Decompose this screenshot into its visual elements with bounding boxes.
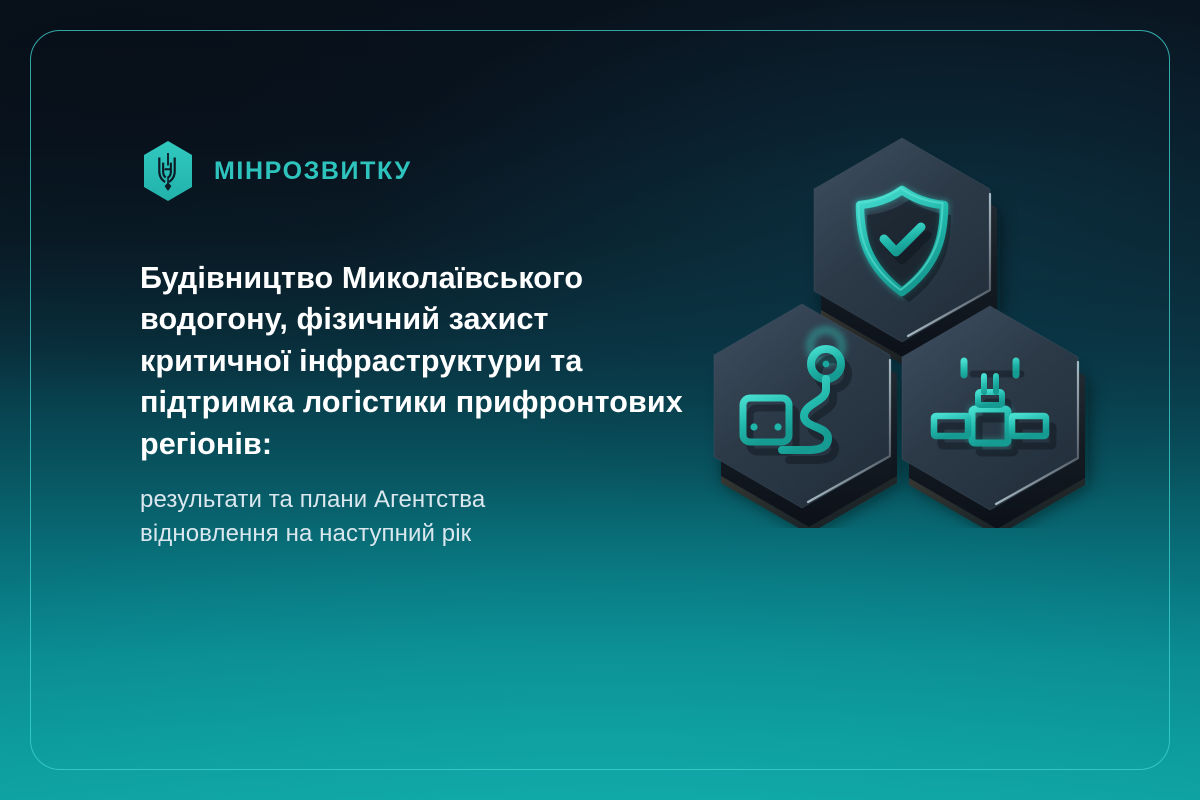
hexagon-tiles-illustration — [690, 118, 1110, 528]
ukraine-trident-hexagon-icon — [140, 140, 196, 202]
brand-lockup: МІНРОЗВИТКУ — [140, 140, 740, 202]
page-subtitle: результати та плани Агентства відновленн… — [140, 483, 610, 551]
page-title: Будівництво Миколаївського водогону, фіз… — [140, 258, 700, 465]
brand-name: МІНРОЗВИТКУ — [214, 159, 412, 184]
presentation-slide: МІНРОЗВИТКУ Будівництво Миколаївського в… — [0, 0, 1200, 800]
slide-content: МІНРОЗВИТКУ Будівництво Миколаївського в… — [140, 140, 740, 552]
hexagon-icon-cluster — [690, 118, 1110, 528]
